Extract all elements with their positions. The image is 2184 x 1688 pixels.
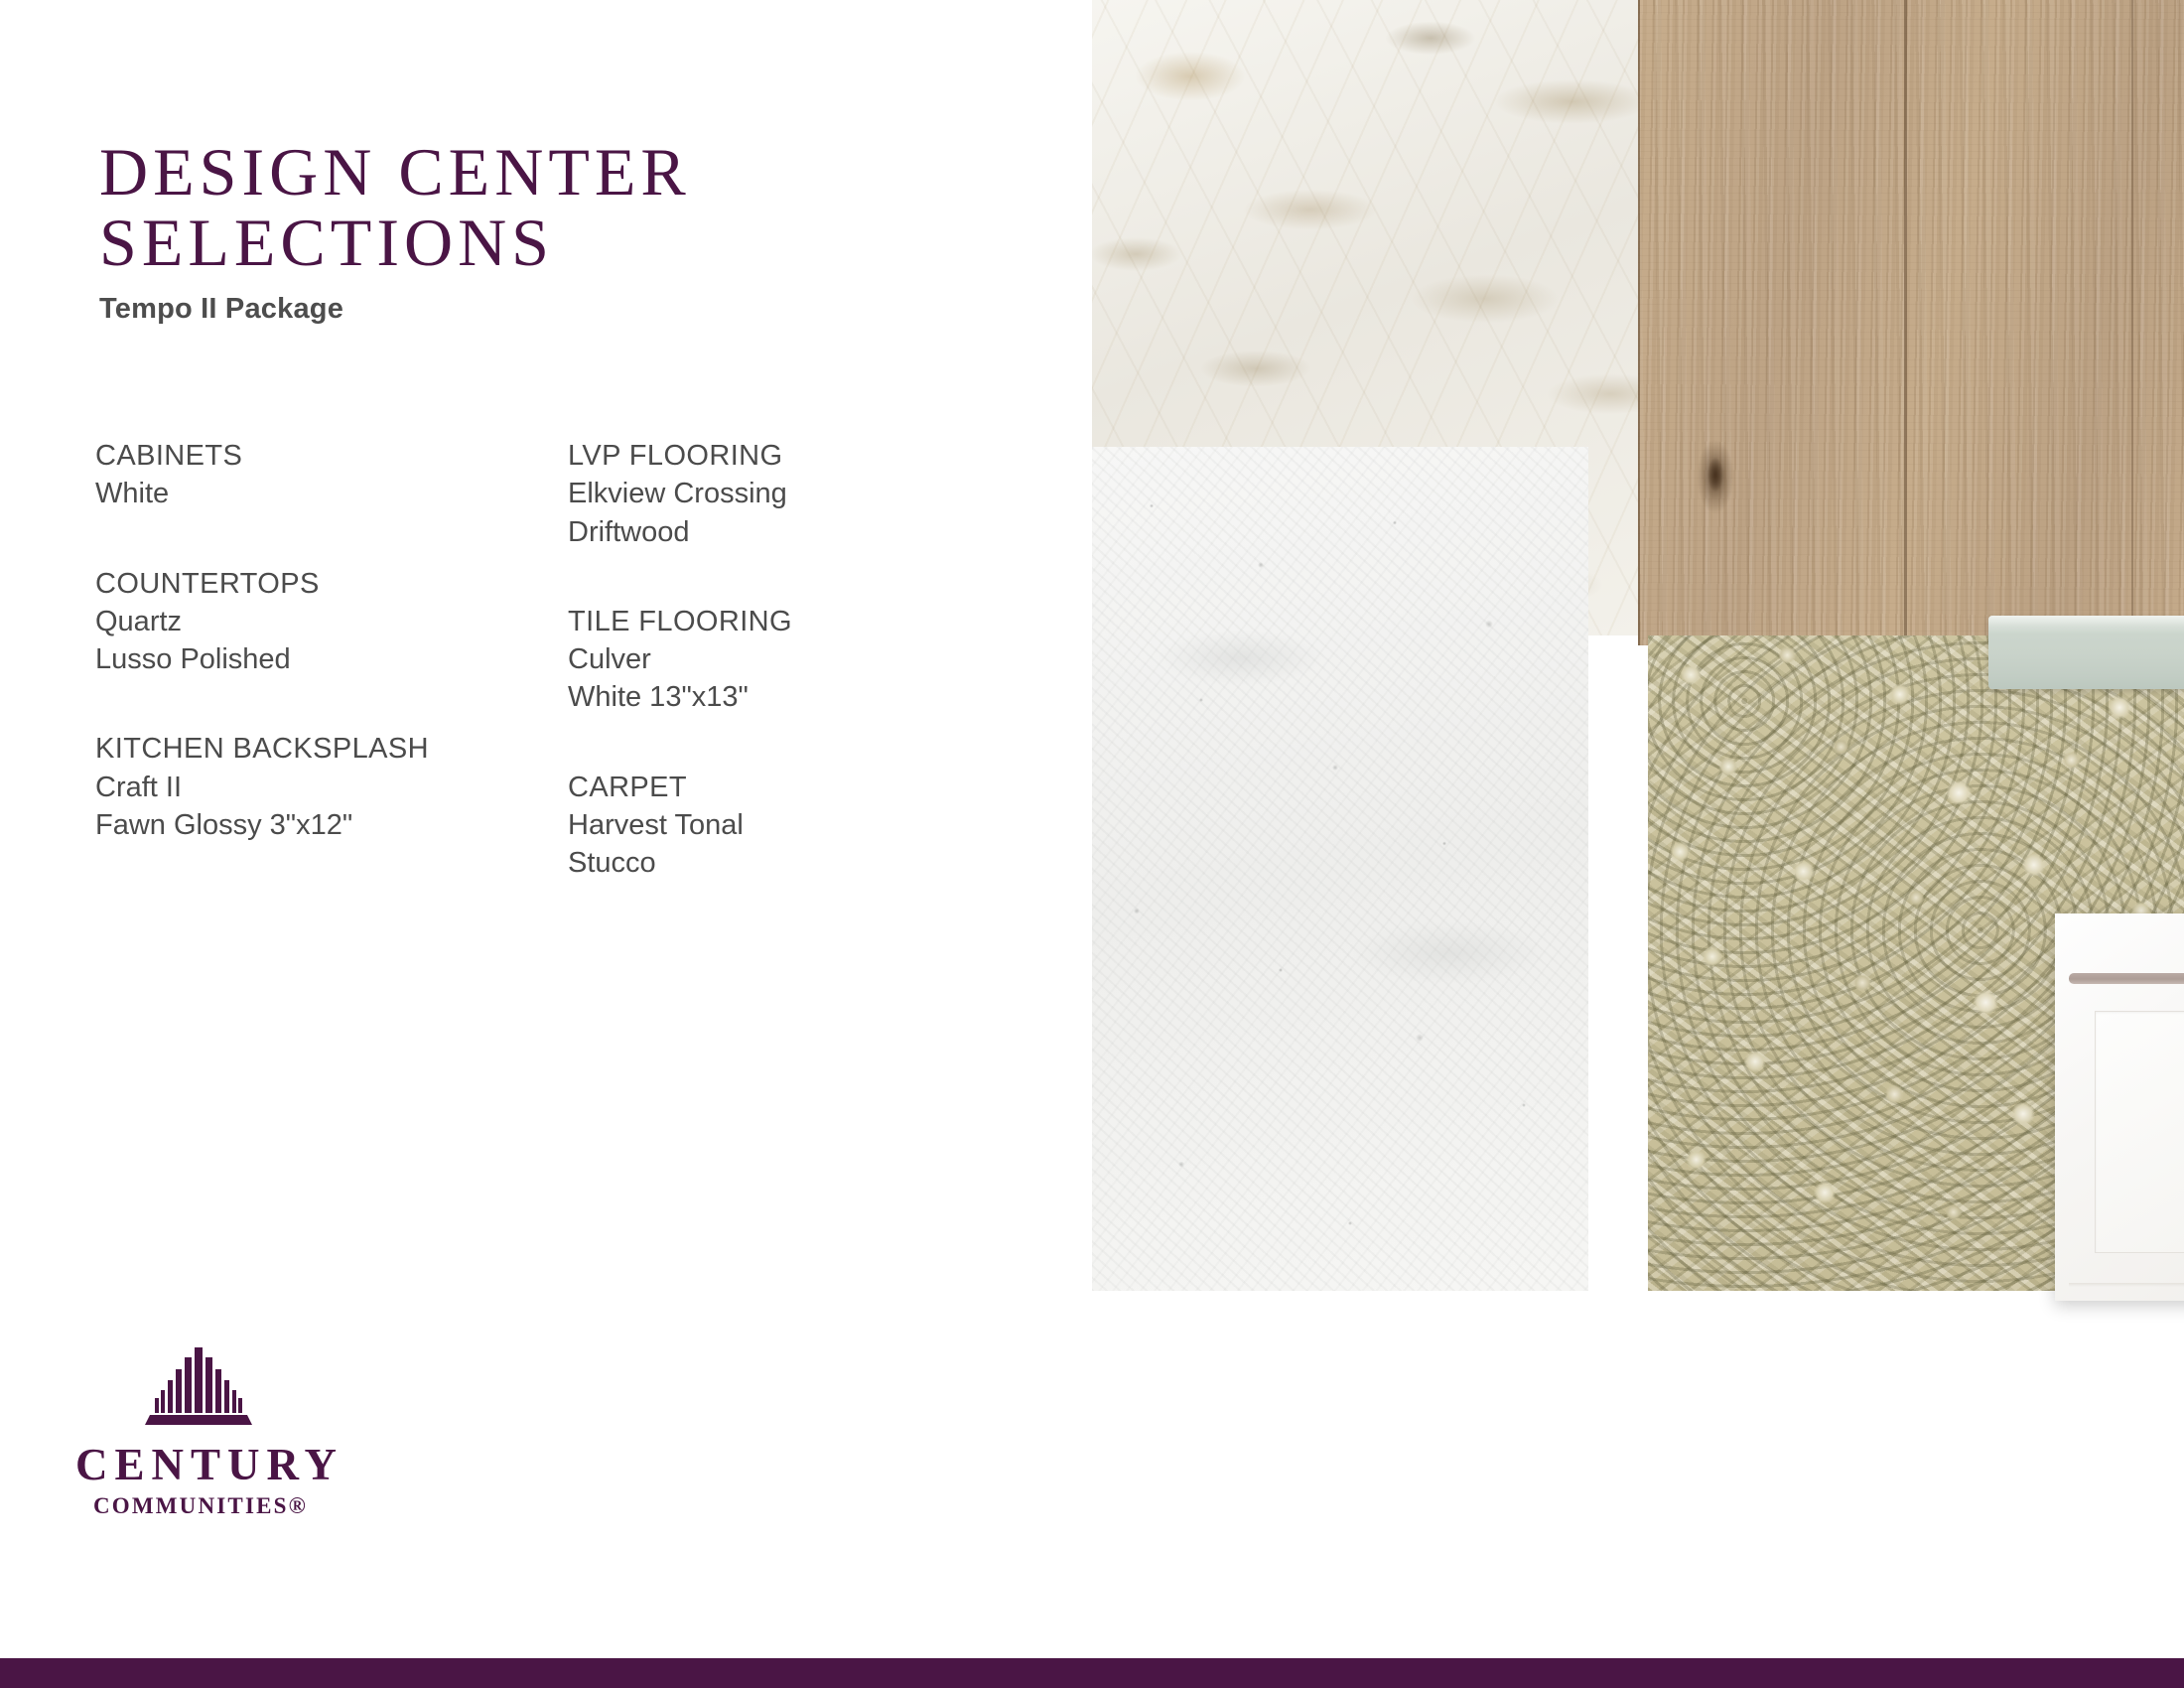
package-subtitle: Tempo II Package [99, 293, 343, 326]
selections-column-right: LVP FLOORING Elkview Crossing Driftwood … [568, 437, 965, 882]
century-communities-logo: CENTURY COMMUNITIES® [69, 1345, 328, 1517]
selection-value: Elkview Crossing [568, 475, 965, 512]
cabinet-bottom-edge [2069, 1283, 2184, 1287]
selection-item-kitchen-backsplash: KITCHEN BACKSPLASH Craft II Fawn Glossy … [95, 730, 492, 844]
selection-value: Harvest Tonal [568, 806, 965, 844]
logo-wordmark-secondary: COMMUNITIES® [73, 1494, 328, 1517]
page-title-line-1: DESIGN CENTER [99, 137, 973, 208]
content-panel: DESIGN CENTER SELECTIONS Tempo II Packag… [0, 0, 1092, 1688]
selections-column-left: CABINETS White COUNTERTOPS Quartz Lusso … [95, 437, 492, 882]
selection-label: CABINETS [95, 437, 492, 475]
selection-label: COUNTERTOPS [95, 565, 492, 603]
selection-label: KITCHEN BACKSPLASH [95, 730, 492, 768]
selection-value: Driftwood [568, 513, 965, 551]
page-title-line-2: SELECTIONS [99, 208, 973, 278]
cabinet-drawer-reveal [2069, 973, 2184, 984]
lvp-flooring-wood-swatch [1638, 0, 2184, 645]
logo-wordmark-primary: CENTURY [75, 1443, 328, 1487]
selection-item-lvp-flooring: LVP FLOORING Elkview Crossing Driftwood [568, 437, 965, 551]
kitchen-backsplash-subway-tile-swatch [1988, 616, 2184, 689]
selection-item-cabinets: CABINETS White [95, 437, 492, 513]
cabinet-door-white-shaker-swatch [2055, 914, 2184, 1301]
selection-value: Culver [568, 640, 965, 678]
selection-label: CARPET [568, 769, 965, 806]
selection-value: Lusso Polished [95, 640, 492, 678]
cabinet-center-panel [2095, 1011, 2184, 1253]
selection-value: White [95, 475, 492, 512]
selection-item-carpet: CARPET Harvest Tonal Stucco [568, 769, 965, 883]
selection-value: White 13"x13" [568, 678, 965, 716]
selection-label: TILE FLOORING [568, 603, 965, 640]
footer-accent-bar [0, 1658, 2184, 1688]
selection-value: Stucco [568, 844, 965, 882]
building-tower-icon [140, 1345, 257, 1437]
selection-item-countertops: COUNTERTOPS Quartz Lusso Polished [95, 565, 492, 679]
material-swatch-collage [1092, 0, 2184, 1688]
selection-value: Craft II [95, 769, 492, 806]
selection-item-tile-flooring: TILE FLOORING Culver White 13"x13" [568, 603, 965, 717]
selection-label: LVP FLOORING [568, 437, 965, 475]
selection-value: Fawn Glossy 3"x12" [95, 806, 492, 844]
page-title: DESIGN CENTER SELECTIONS [99, 137, 973, 279]
selection-value: Quartz [95, 603, 492, 640]
tile-flooring-white-swatch [1092, 447, 1588, 1291]
selections-list: CABINETS White COUNTERTOPS Quartz Lusso … [95, 437, 1009, 882]
